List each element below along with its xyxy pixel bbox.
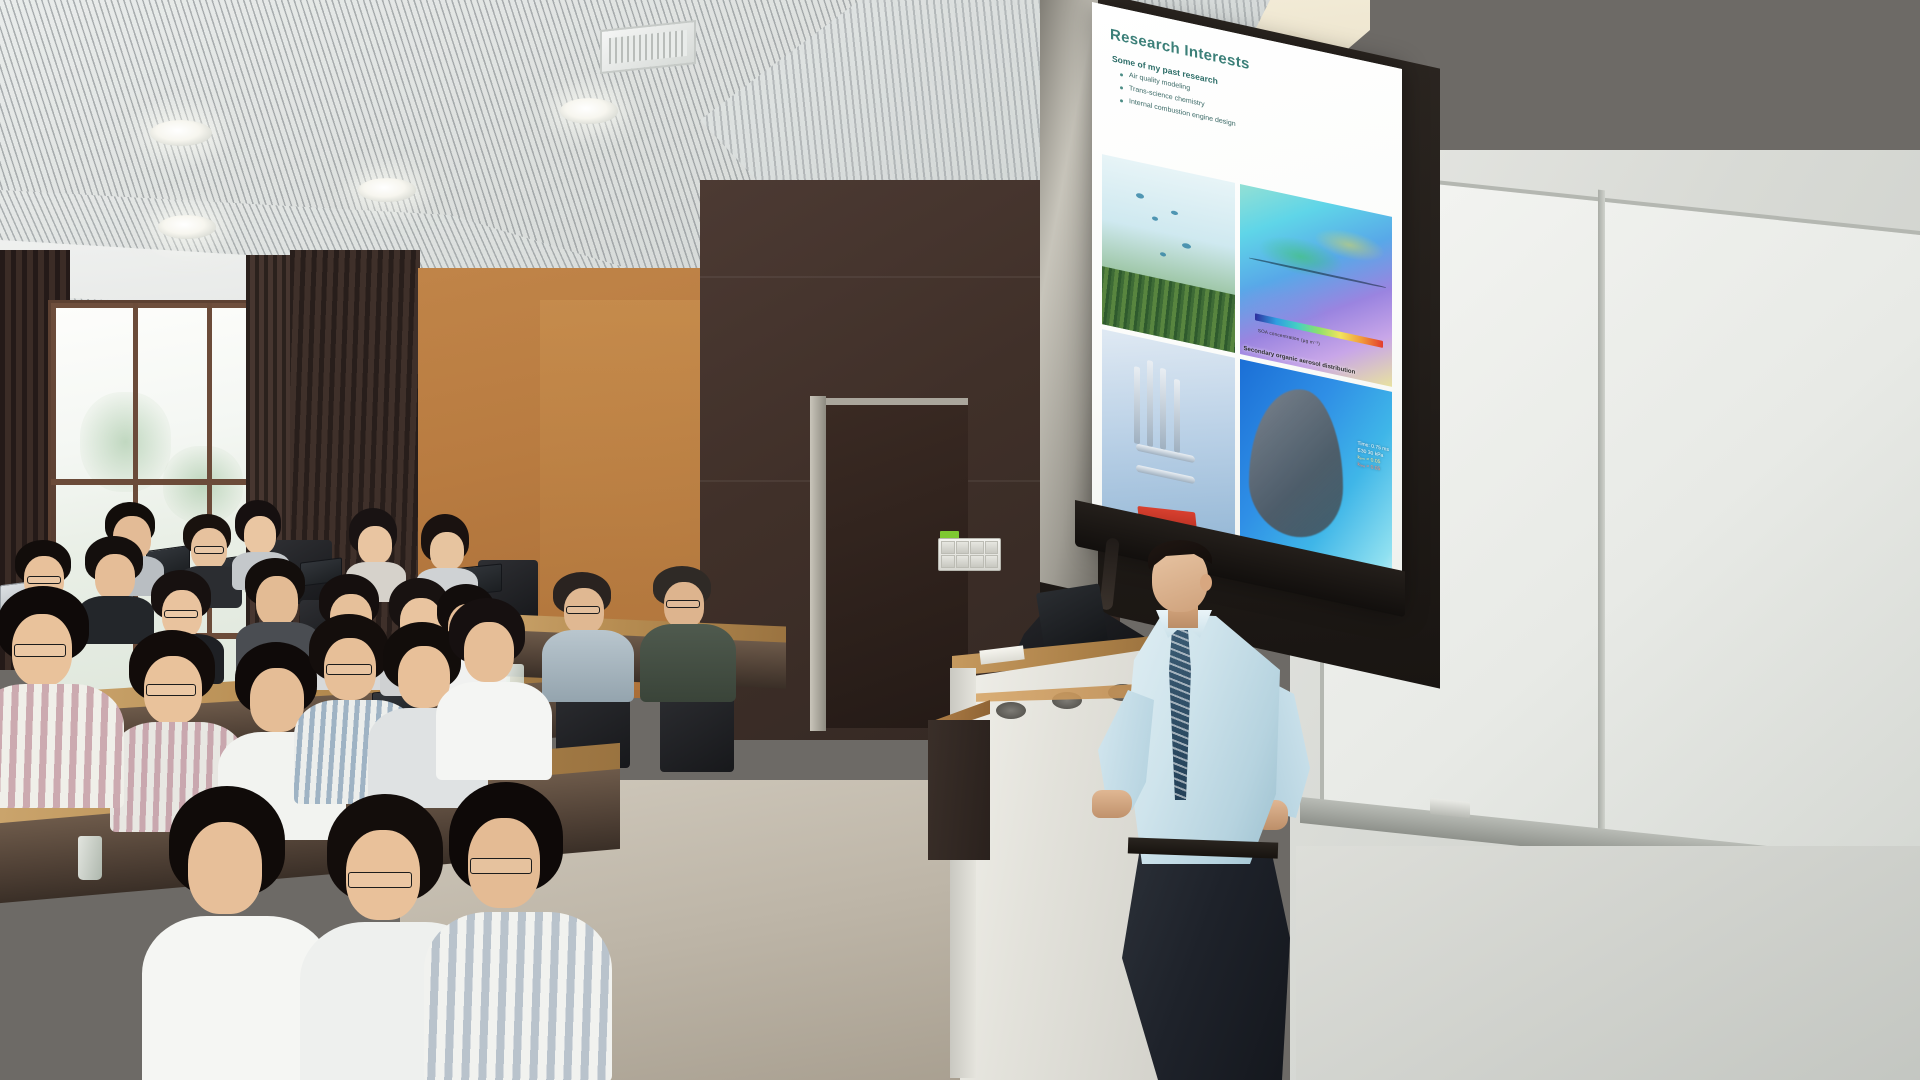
ceiling-light-icon: [560, 98, 618, 124]
torso: [542, 630, 634, 702]
glasses: [14, 644, 66, 657]
face: [244, 516, 276, 554]
spray-annotation-block: Time: 0.75 ms E30 30 kPa kₑₘ = 0.05 kᵣₑₐ…: [1357, 440, 1389, 476]
face: [358, 526, 392, 564]
slide-tile-city-photo: [1102, 154, 1235, 353]
ceiling-light-icon: [158, 215, 216, 239]
light-switch[interactable]: [941, 555, 955, 568]
face: [188, 822, 262, 914]
glasses: [194, 546, 224, 554]
audience-member: [172, 792, 292, 1080]
ceiling-light-icon: [358, 178, 416, 202]
glasses: [27, 576, 61, 584]
light-switch-panel[interactable]: [938, 538, 1001, 571]
torso: [0, 684, 124, 808]
audience-member: [88, 542, 148, 642]
light-switch[interactable]: [970, 541, 984, 554]
glasses: [566, 606, 600, 614]
glasses: [326, 664, 372, 675]
audience-member: [656, 572, 720, 694]
lecture-hall-photo: A lecturer in a light-blue dress shirt a…: [0, 0, 1920, 1080]
glasses: [164, 610, 198, 618]
ceiling-light-icon: [150, 120, 212, 146]
slide-tile-aerosol-map: SOA concentration (µg m⁻³) Secondary org…: [1240, 184, 1392, 387]
window-mullion: [51, 479, 260, 485]
lower-wall: [1296, 846, 1920, 1080]
glasses: [666, 600, 700, 608]
torso: [424, 912, 612, 1080]
light-switch[interactable]: [941, 541, 955, 554]
light-switch[interactable]: [985, 555, 999, 568]
torso: [640, 624, 736, 702]
presenter-ear: [1200, 574, 1212, 591]
glasses: [348, 872, 412, 888]
face: [256, 576, 298, 626]
light-switch[interactable]: [956, 555, 970, 568]
glasses: [470, 858, 532, 874]
face: [95, 554, 135, 600]
face: [430, 532, 464, 570]
light-switch[interactable]: [985, 541, 999, 554]
foliage: [80, 392, 172, 492]
light-switch[interactable]: [970, 555, 984, 568]
whiteboard-divider: [1598, 190, 1605, 851]
audience-member: [452, 788, 570, 1080]
audience-member: [0, 592, 96, 792]
torso: [436, 682, 552, 780]
glasses: [146, 684, 196, 696]
audience-member: [452, 604, 532, 774]
light-switch[interactable]: [956, 541, 970, 554]
podium-monitor[interactable]: [1036, 583, 1108, 650]
water-bottle[interactable]: [78, 836, 102, 880]
audience-member: [556, 578, 620, 698]
presenter-left-hand: [1092, 790, 1132, 818]
face: [464, 622, 514, 682]
door-jamb: [810, 396, 826, 731]
front-desk-body: [928, 720, 990, 860]
